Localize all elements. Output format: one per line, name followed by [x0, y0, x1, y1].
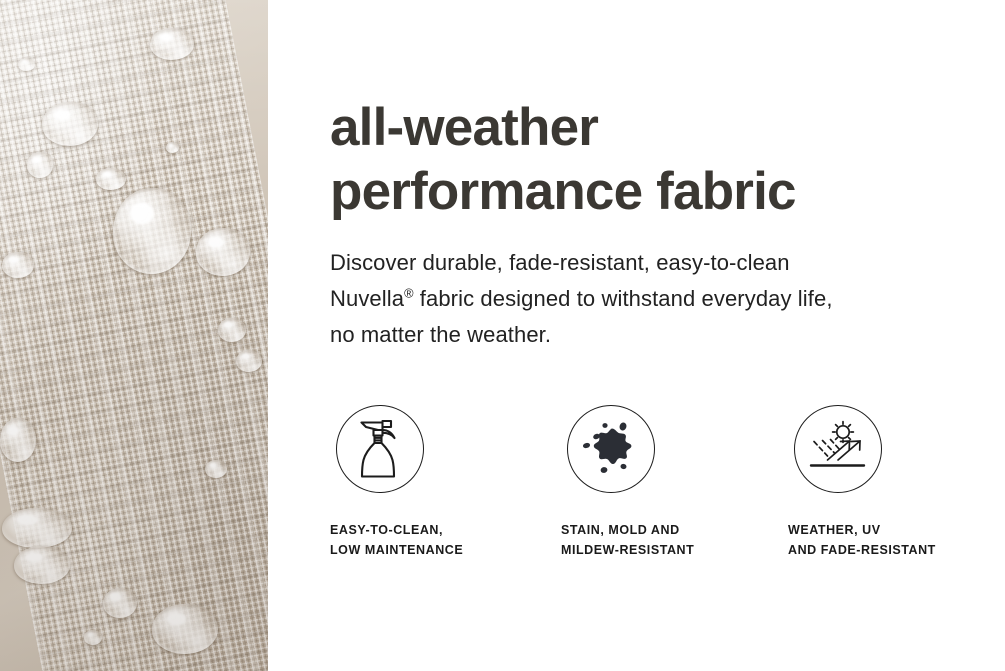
water-droplet: [152, 604, 218, 654]
sun-reflect-icon: [794, 405, 882, 493]
water-droplets-group: [0, 0, 268, 671]
water-droplet: [150, 28, 194, 60]
page-title: all-weather performance fabric: [330, 96, 970, 224]
subcopy-line-3: no matter the weather.: [330, 322, 551, 347]
water-droplet: [205, 460, 227, 478]
water-droplet: [42, 102, 98, 146]
subcopy-paragraph: Discover durable, fade-resistant, easy-t…: [330, 245, 950, 353]
water-droplet: [84, 630, 102, 645]
water-droplet: [96, 168, 126, 190]
water-droplet: [236, 350, 262, 372]
water-droplet: [14, 546, 70, 584]
water-droplet: [27, 152, 53, 178]
feature-label-easy-to-clean: EASY-TO-CLEAN, LOW MAINTENANCE: [330, 520, 561, 560]
feature-label-weather-uv-resistant: WEATHER, UV AND FADE-RESISTANT: [788, 520, 1005, 560]
feature-list: EASY-TO-CLEAN, LOW MAINTENANCE STAIN, M: [330, 405, 1005, 560]
water-droplet: [166, 142, 179, 153]
feature-item-stain-resistant: STAIN, MOLD AND MILDEW-RESISTANT: [561, 405, 788, 560]
subcopy-line-2: fabric designed to withstand everyday li…: [414, 286, 833, 311]
content-panel: all-weather performance fabric Discover …: [268, 0, 1005, 671]
stain-splat-icon: [567, 405, 655, 493]
feature-item-easy-to-clean: EASY-TO-CLEAN, LOW MAINTENANCE: [330, 405, 561, 560]
subcopy-brand-name: Nuvella: [330, 286, 404, 311]
subcopy-line-1: Discover durable, fade-resistant, easy-t…: [330, 250, 790, 275]
water-droplet: [113, 188, 191, 274]
water-droplet: [2, 508, 72, 548]
water-droplet: [18, 58, 35, 71]
water-droplet: [196, 228, 250, 276]
water-droplet: [103, 588, 137, 618]
fabric-photo: [0, 0, 268, 671]
registered-trademark-icon: ®: [404, 286, 414, 301]
feature-item-weather-uv-resistant: WEATHER, UV AND FADE-RESISTANT: [788, 405, 1005, 560]
all-weather-fabric-banner: all-weather performance fabric Discover …: [0, 0, 1005, 671]
spray-bottle-icon: [336, 405, 424, 493]
water-droplet: [218, 318, 246, 342]
water-droplet: [0, 418, 36, 462]
water-droplet: [2, 252, 34, 278]
feature-label-stain-resistant: STAIN, MOLD AND MILDEW-RESISTANT: [561, 520, 788, 560]
